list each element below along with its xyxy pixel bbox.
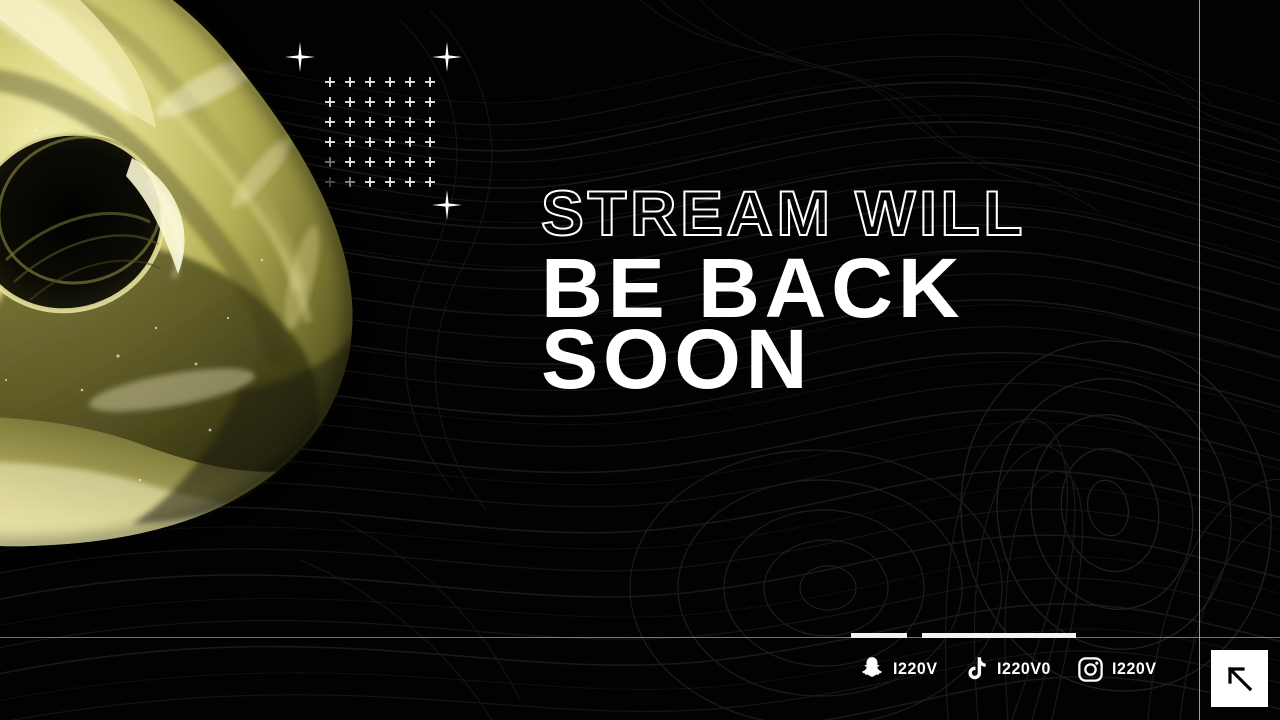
social-handles-bar: I220V I220V0 I220V bbox=[858, 655, 1159, 683]
social-item-tiktok[interactable]: I220V0 bbox=[962, 655, 1054, 683]
right-vertical-divider bbox=[1199, 0, 1200, 720]
social-handle-instagram: I220V bbox=[1112, 659, 1157, 679]
headline-line-1: STREAM WILL bbox=[541, 186, 1026, 244]
social-handle-snapchat: I220V bbox=[893, 659, 938, 679]
arrow-badge[interactable] bbox=[1211, 650, 1268, 707]
plus-grid-decoration bbox=[290, 40, 480, 220]
arrow-up-left-icon bbox=[1224, 663, 1256, 695]
headline-block: STREAM WILL BE BACK SOON bbox=[541, 186, 1017, 398]
sparkle-icon bbox=[285, 42, 462, 220]
social-item-snapchat[interactable]: I220V bbox=[858, 655, 940, 683]
stream-offline-overlay: STREAM WILL BE BACK SOON I220V I220V0 bbox=[0, 0, 1280, 720]
accent-bar-right bbox=[922, 633, 1076, 638]
instagram-icon bbox=[1077, 655, 1105, 683]
snapchat-icon bbox=[858, 655, 886, 683]
headline-line-3: SOON bbox=[541, 321, 1026, 398]
accent-bar-left bbox=[851, 633, 907, 638]
bottom-divider-line bbox=[0, 637, 1280, 638]
social-item-instagram[interactable]: I220V bbox=[1077, 655, 1159, 683]
gold-liquid-artwork bbox=[0, 0, 430, 620]
social-handle-tiktok: I220V0 bbox=[997, 659, 1051, 679]
tiktok-icon bbox=[962, 655, 990, 683]
